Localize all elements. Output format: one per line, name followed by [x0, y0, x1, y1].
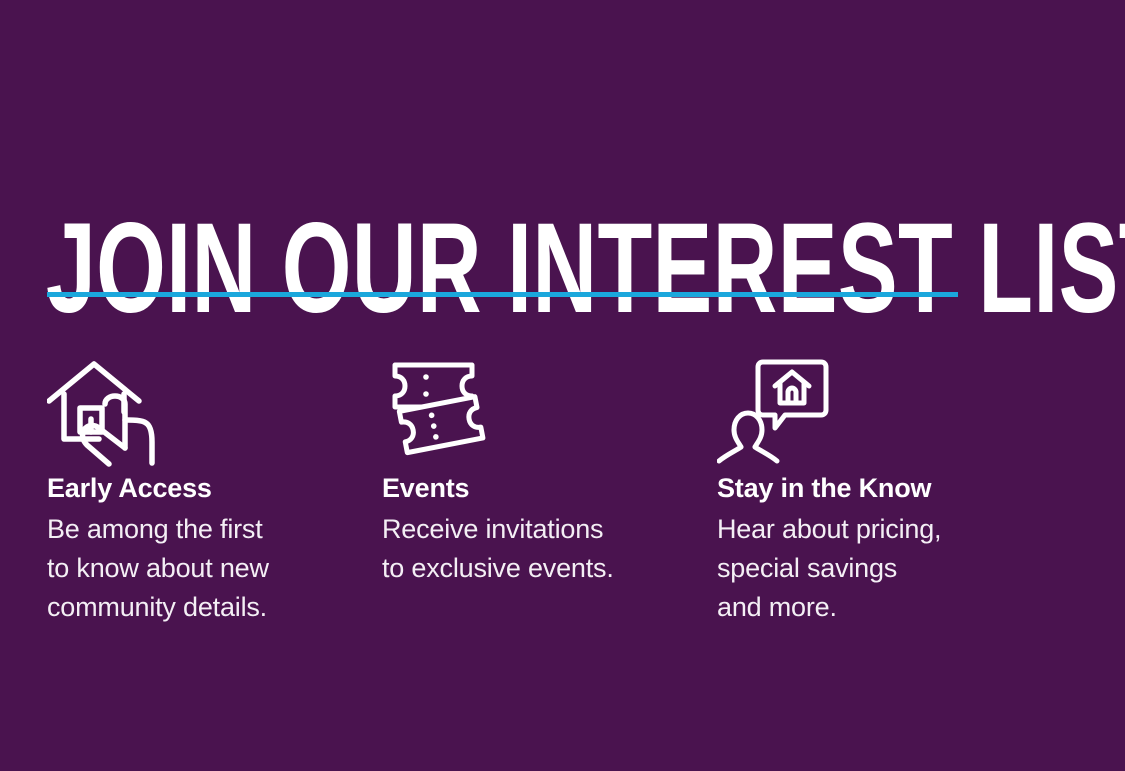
feature-item-early-access: Early Access Be among the first to know …: [47, 356, 382, 627]
feature-heading: Early Access: [47, 472, 362, 504]
feature-body: Hear about pricing, special savings and …: [717, 510, 1032, 627]
feature-grid: Early Access Be among the first to know …: [47, 356, 1077, 627]
feature-heading: Stay in the Know: [717, 472, 1032, 504]
accent-divider: [47, 292, 958, 297]
person-speech-bubble-house-icon: [717, 356, 1032, 472]
feature-heading: Events: [382, 472, 697, 504]
tickets-icon: [382, 356, 697, 472]
house-hand-pointing-icon: [47, 356, 362, 472]
feature-body: Receive invitations to exclusive events.: [382, 510, 697, 588]
page-title: Join Our Interest List: [46, 204, 732, 334]
interest-list-promo-panel: Join Our Interest List: [0, 0, 1125, 771]
feature-item-stay-in-the-know: Stay in the Know Hear about pricing, spe…: [717, 356, 1052, 627]
feature-body: Be among the first to know about new com…: [47, 510, 362, 627]
feature-item-events: Events Receive invitations to exclusive …: [382, 356, 717, 588]
